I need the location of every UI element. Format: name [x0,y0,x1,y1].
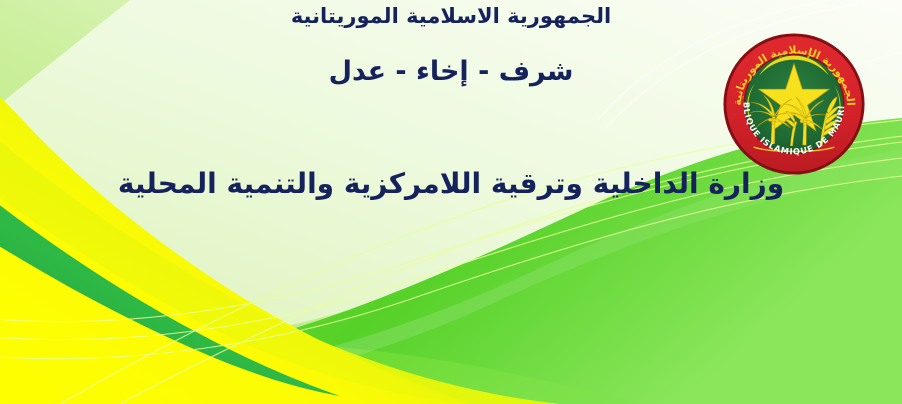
letterhead-banner: الجمهورية الاسلامية الموريتانية شرف - إخ… [0,0,902,404]
national-emblem: الجمهورية الإسلامية الموريتانية REPUBLIQ… [722,32,866,176]
country-name-line: الجمهورية الاسلامية الموريتانية [0,6,902,27]
